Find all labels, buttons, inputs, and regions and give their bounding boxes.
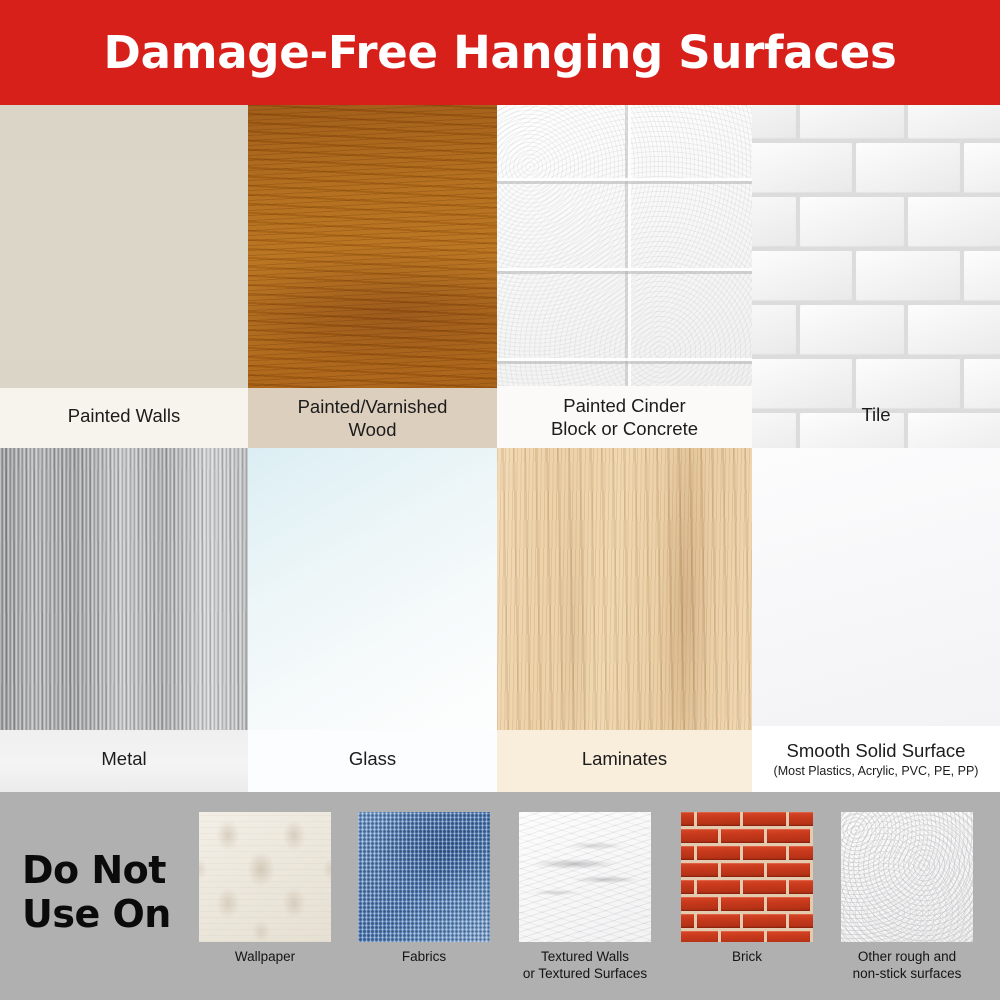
textured-wall-texture (519, 812, 651, 942)
surface-label-smooth-solid: Smooth Solid Surface (Most Plastics, Acr… (752, 726, 1000, 792)
do-not-use-caption-brick: Brick (681, 949, 813, 966)
surface-cell-metal: Metal (0, 448, 248, 792)
textured-walls-thumbnail (519, 812, 651, 942)
rough-nonstick-thumbnail (841, 812, 973, 942)
label-text-line2: Wood (349, 419, 397, 442)
surface-label-cinder-block: Painted Cinder Block or Concrete (497, 386, 752, 448)
do-not-use-item-brick: Brick (681, 812, 813, 966)
surface-cell-cinder-block: Painted Cinder Block or Concrete (497, 105, 752, 448)
do-not-use-heading: Do Not Use On (22, 848, 212, 937)
label-text: Laminates (582, 748, 667, 771)
surface-cell-glass: Glass (248, 448, 497, 792)
brick-wall-texture (681, 812, 813, 942)
label-text: Glass (349, 748, 396, 771)
do-not-use-item-fabrics: Fabrics (358, 812, 490, 966)
surface-cell-laminates: Laminates (497, 448, 752, 792)
label-text: Tile (861, 404, 890, 427)
fabrics-thumbnail (358, 812, 490, 942)
brick-thumbnail (681, 812, 813, 942)
label-text-line1: Painted/Varnished (298, 396, 448, 419)
do-not-use-item-wallpaper: Wallpaper (199, 812, 331, 966)
do-not-use-caption-textured-walls: Textured Walls or Textured Surfaces (519, 949, 651, 982)
label-text: Smooth Solid Surface (787, 740, 966, 763)
caption-line1: Brick (681, 949, 813, 966)
wallpaper-thumbnail (199, 812, 331, 942)
caption-line2: or Textured Surfaces (519, 966, 651, 983)
label-text-line1: Painted Cinder (563, 395, 685, 418)
label-text: Painted Walls (68, 405, 180, 428)
caption-line1: Fabrics (358, 949, 490, 966)
surface-cell-painted-walls: Painted Walls (0, 105, 248, 448)
surface-cell-smooth-solid: Smooth Solid Surface (Most Plastics, Acr… (752, 448, 1000, 792)
surface-cell-tile: Tile (752, 105, 1000, 448)
label-text-line2: Block or Concrete (551, 418, 698, 441)
page-title: Damage-Free Hanging Surfaces (104, 26, 897, 79)
label-text: Metal (101, 748, 146, 771)
do-not-use-item-rough: Other rough and non-stick surfaces (841, 812, 973, 982)
do-not-use-caption-fabrics: Fabrics (358, 949, 490, 966)
caption-line1: Textured Walls (519, 949, 651, 966)
surface-label-varnished-wood: Painted/Varnished Wood (248, 388, 497, 448)
infographic-root: Damage-Free Hanging Surfaces Painted Wal… (0, 0, 1000, 1000)
do-not-use-item-textured-walls: Textured Walls or Textured Surfaces (519, 812, 651, 982)
surface-label-tile: Tile (752, 386, 1000, 448)
rough-nonstick-texture (841, 812, 973, 942)
label-sublabel: (Most Plastics, Acrylic, PVC, PE, PP) (774, 764, 979, 779)
do-not-use-heading-line1: Do Not (22, 848, 212, 892)
caption-line2: non-stick surfaces (841, 966, 973, 983)
wallpaper-damask-texture (199, 812, 331, 942)
surface-cell-varnished-wood: Painted/Varnished Wood (248, 105, 497, 448)
surface-label-glass: Glass (248, 730, 497, 792)
do-not-use-heading-line2: Use On (22, 892, 212, 936)
approved-surfaces-grid: Painted Walls Painted/Varnished Wood Pai… (0, 105, 1000, 792)
denim-fabric-texture (358, 812, 490, 942)
surface-label-metal: Metal (0, 730, 248, 792)
caption-line1: Wallpaper (199, 949, 331, 966)
do-not-use-caption-wallpaper: Wallpaper (199, 949, 331, 966)
surface-label-laminates: Laminates (497, 730, 752, 792)
do-not-use-caption-rough: Other rough and non-stick surfaces (841, 949, 973, 982)
surface-label-painted-walls: Painted Walls (0, 388, 248, 448)
header-banner: Damage-Free Hanging Surfaces (0, 0, 1000, 105)
caption-line1: Other rough and (841, 949, 973, 966)
